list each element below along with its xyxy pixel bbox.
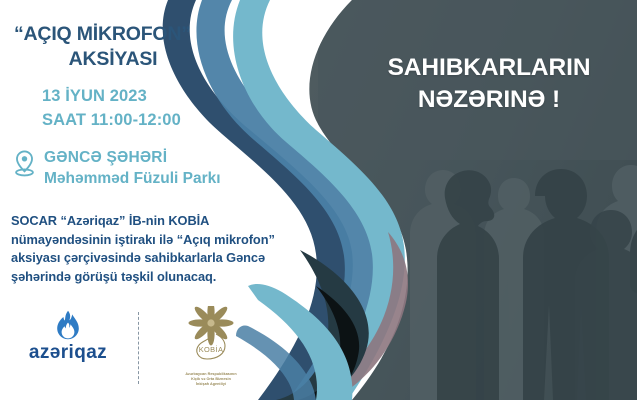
svg-text:KOBİA: KOBİA xyxy=(199,345,224,354)
kobia-tagline-line-3: İnkişafı Agentliyi xyxy=(157,382,265,387)
headline: SAHIBKARLARIN NƏZƏRINƏ ! xyxy=(352,52,626,116)
location-text: GƏNCƏ ŞƏHƏRİ Məhəmməd Füzuli Parkı xyxy=(44,148,221,189)
dashed-divider-icon xyxy=(138,312,139,384)
kobia-logo: KOBİA Azərbaycan Respublikasının Kiçik v… xyxy=(157,306,265,388)
azeriqaz-logo: azəriqaz xyxy=(16,306,120,363)
headline-line-2: NƏZƏRINƏ ! xyxy=(352,84,626,116)
location-city: GƏNCƏ ŞƏHƏRİ xyxy=(44,148,221,169)
title-line-2: AKSİYASI xyxy=(14,47,264,72)
event-datetime: 13 İYUN 2023 SAAT 11:00-12:00 xyxy=(42,84,181,132)
kobia-tagline: Azərbaycan Respublikasının Kiçik və Orta… xyxy=(157,372,265,388)
left-content-column: “AÇIQ MİKROFON” AKSİYASI 13 İYUN 2023 SA… xyxy=(0,0,300,400)
headline-line-1: SAHIBKARLARIN xyxy=(352,52,626,84)
event-time: SAAT 11:00-12:00 xyxy=(42,108,181,132)
body-paragraph: SOCAR “Azəriqaz” İB-nin KOBİA nümayəndəs… xyxy=(11,212,299,286)
location-venue: Məhəmməd Füzuli Parkı xyxy=(44,169,221,190)
title-line-1: “AÇIQ MİKROFON” xyxy=(14,22,264,47)
location-pin-icon xyxy=(14,150,35,177)
page-title: “AÇIQ MİKROFON” AKSİYASI xyxy=(14,22,264,72)
poster-canvas: “AÇIQ MİKROFON” AKSİYASI 13 İYUN 2023 SA… xyxy=(0,0,637,400)
logo-row: azəriqaz xyxy=(16,306,265,388)
event-date: 13 İYUN 2023 xyxy=(42,84,181,108)
azeriqaz-wordmark: azəriqaz xyxy=(16,343,120,363)
event-location: GƏNCƏ ŞƏHƏRİ Məhəmməd Füzuli Parkı xyxy=(14,148,221,189)
flame-icon xyxy=(55,310,81,340)
kobia-flower-icon: KOBİA xyxy=(179,306,243,364)
